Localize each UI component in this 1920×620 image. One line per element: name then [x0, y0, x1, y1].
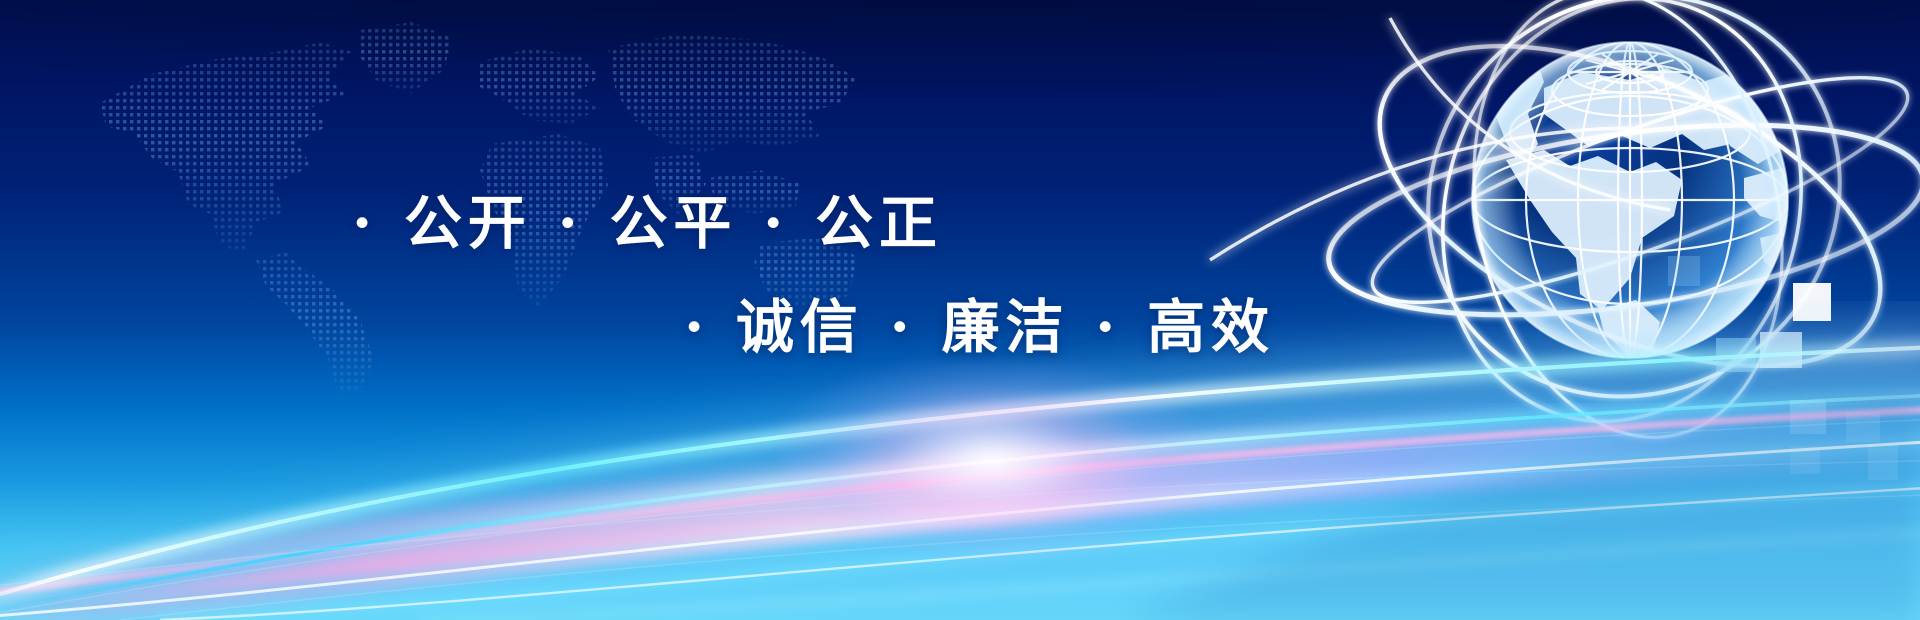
- square-blue-5: [1790, 446, 1820, 474]
- orbit-ring: [1317, 93, 1920, 347]
- slogan-line-2: · 诚信 · 廉洁 · 高效: [684, 280, 1275, 364]
- slogan-block: · 公开 · 公平 · 公正 · 诚信 · 廉洁 · 高效: [0, 0, 1250, 400]
- square-pale: [1760, 332, 1802, 368]
- bottom-light-streaks: [0, 290, 1920, 620]
- square-blue-6: [1668, 256, 1700, 286]
- orbit-ring: [1350, 0, 1917, 476]
- orbit-ring: [1394, 0, 1850, 464]
- orbit-ring: [1434, 0, 1821, 466]
- square-blue-3: [1846, 412, 1880, 442]
- wireframe-globe-icon: [1330, 10, 1920, 440]
- square-blue-4: [1868, 444, 1898, 480]
- orbit-ring: [1333, 0, 1920, 432]
- orbit-ring: [1353, 36, 1920, 343]
- square-blue-2: [1790, 400, 1826, 434]
- square-blue-1: [1716, 338, 1756, 372]
- top-vignette: [0, 0, 1920, 260]
- dotted-world-map: [60, 8, 880, 398]
- square-white: [1793, 283, 1831, 321]
- slogan-line-1: · 公开 · 公平 · 公正: [352, 176, 943, 260]
- wave-glow-hotspot: [780, 360, 1200, 560]
- banner-root: · 公开 · 公平 · 公正 · 诚信 · 廉洁 · 高效: [0, 0, 1920, 620]
